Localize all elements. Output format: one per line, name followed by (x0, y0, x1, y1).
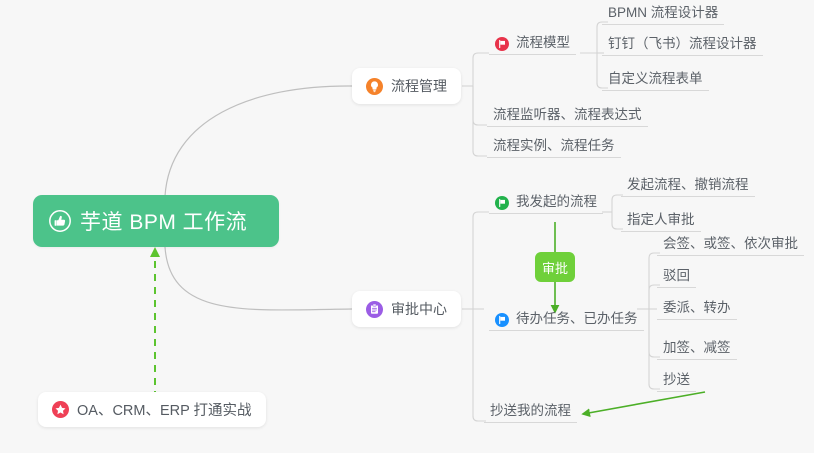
node-label-process-listener-expression: 流程监听器、流程表达式 (493, 107, 642, 123)
node-cc[interactable]: 抄送 (657, 373, 696, 392)
node-label-cc: 抄送 (663, 372, 690, 388)
footnote-node[interactable]: OA、CRM、ERP 打通实战 (38, 392, 266, 427)
node-cc-to-me-process[interactable]: 抄送我的流程 (484, 404, 577, 423)
footnote-label: OA、CRM、ERP 打通实战 (77, 399, 252, 420)
mindmap-canvas: 芋道 BPM 工作流 流程管理 流程模型 BPMN 流程设计器 钉钉（飞书 (0, 0, 814, 453)
node-process-listener-expression[interactable]: 流程监听器、流程表达式 (487, 108, 648, 127)
edge-root-to-process-management (165, 86, 352, 196)
lightbulb-icon (366, 78, 383, 95)
root-node[interactable]: 芋道 BPM 工作流 (33, 195, 279, 247)
node-label-add-remove-sign: 加签、减签 (663, 340, 731, 356)
edge-flow-cc-to-ccme (583, 392, 705, 414)
edge-pm-to-listener (473, 86, 487, 125)
node-label-start-cancel-process: 发起流程、撤销流程 (627, 177, 749, 193)
node-label-cc-to-me-process: 抄送我的流程 (490, 403, 571, 419)
node-label-dingtalk-feishu-designer: 钉钉（飞书）流程设计器 (608, 36, 757, 52)
node-process-instance-task[interactable]: 流程实例、流程任务 (487, 139, 621, 158)
node-dingtalk-feishu-designer[interactable]: 钉钉（飞书）流程设计器 (602, 37, 763, 56)
node-start-cancel-process[interactable]: 发起流程、撤销流程 (621, 178, 755, 197)
node-label-reject: 驳回 (663, 268, 690, 284)
flag-icon (495, 196, 509, 210)
node-label-assignee-approval: 指定人审批 (627, 212, 695, 228)
node-add-remove-sign[interactable]: 加签、减签 (657, 341, 737, 360)
node-reject[interactable]: 驳回 (657, 269, 696, 288)
root-label: 芋道 BPM 工作流 (80, 206, 247, 236)
node-todo-done-tasks[interactable]: 待办任务、已办任务 (489, 312, 644, 331)
edge-pm-to-instance (473, 86, 487, 156)
flag-icon (495, 37, 509, 51)
edge-ac-to-initiated (473, 212, 489, 309)
branch-label-approval-center: 审批中心 (391, 299, 447, 319)
node-my-initiated-process[interactable]: 我发起的流程 (489, 195, 603, 214)
flag-icon (495, 313, 509, 327)
node-label-todo-done-tasks: 待办任务、已办任务 (516, 311, 638, 327)
edge-pm-to-process-model (473, 53, 489, 86)
node-label-custom-process-form: 自定义流程表单 (608, 71, 703, 87)
node-label-process-instance-task: 流程实例、流程任务 (493, 138, 615, 154)
branch-label-process-management: 流程管理 (391, 76, 447, 96)
branch-node-approval-center[interactable]: 审批中心 (352, 291, 461, 327)
node-process-model[interactable]: 流程模型 (489, 36, 576, 55)
node-delegate-transfer[interactable]: 委派、转办 (657, 301, 737, 320)
flow-badge-label: 审批 (542, 258, 568, 277)
node-label-process-model: 流程模型 (516, 35, 570, 51)
node-label-delegate-transfer: 委派、转办 (663, 300, 731, 316)
edge-root-to-approval-center (165, 247, 352, 310)
node-custom-process-form[interactable]: 自定义流程表单 (602, 72, 709, 91)
star-icon (52, 401, 69, 418)
node-assignee-approval[interactable]: 指定人审批 (621, 213, 701, 232)
flow-badge-approval: 审批 (535, 252, 575, 282)
node-label-my-initiated-process: 我发起的流程 (516, 194, 597, 210)
edge-initiated-to-start (612, 195, 623, 212)
node-bpmn-designer[interactable]: BPMN 流程设计器 (602, 6, 724, 25)
node-label-countersign: 会签、或签、依次审批 (663, 236, 798, 252)
clipboard-icon (366, 301, 383, 318)
branch-node-process-management[interactable]: 流程管理 (352, 68, 461, 104)
node-countersign[interactable]: 会签、或签、依次审批 (657, 237, 804, 256)
node-label-bpmn-designer: BPMN 流程设计器 (608, 5, 718, 21)
thumbs-up-icon (49, 210, 71, 232)
